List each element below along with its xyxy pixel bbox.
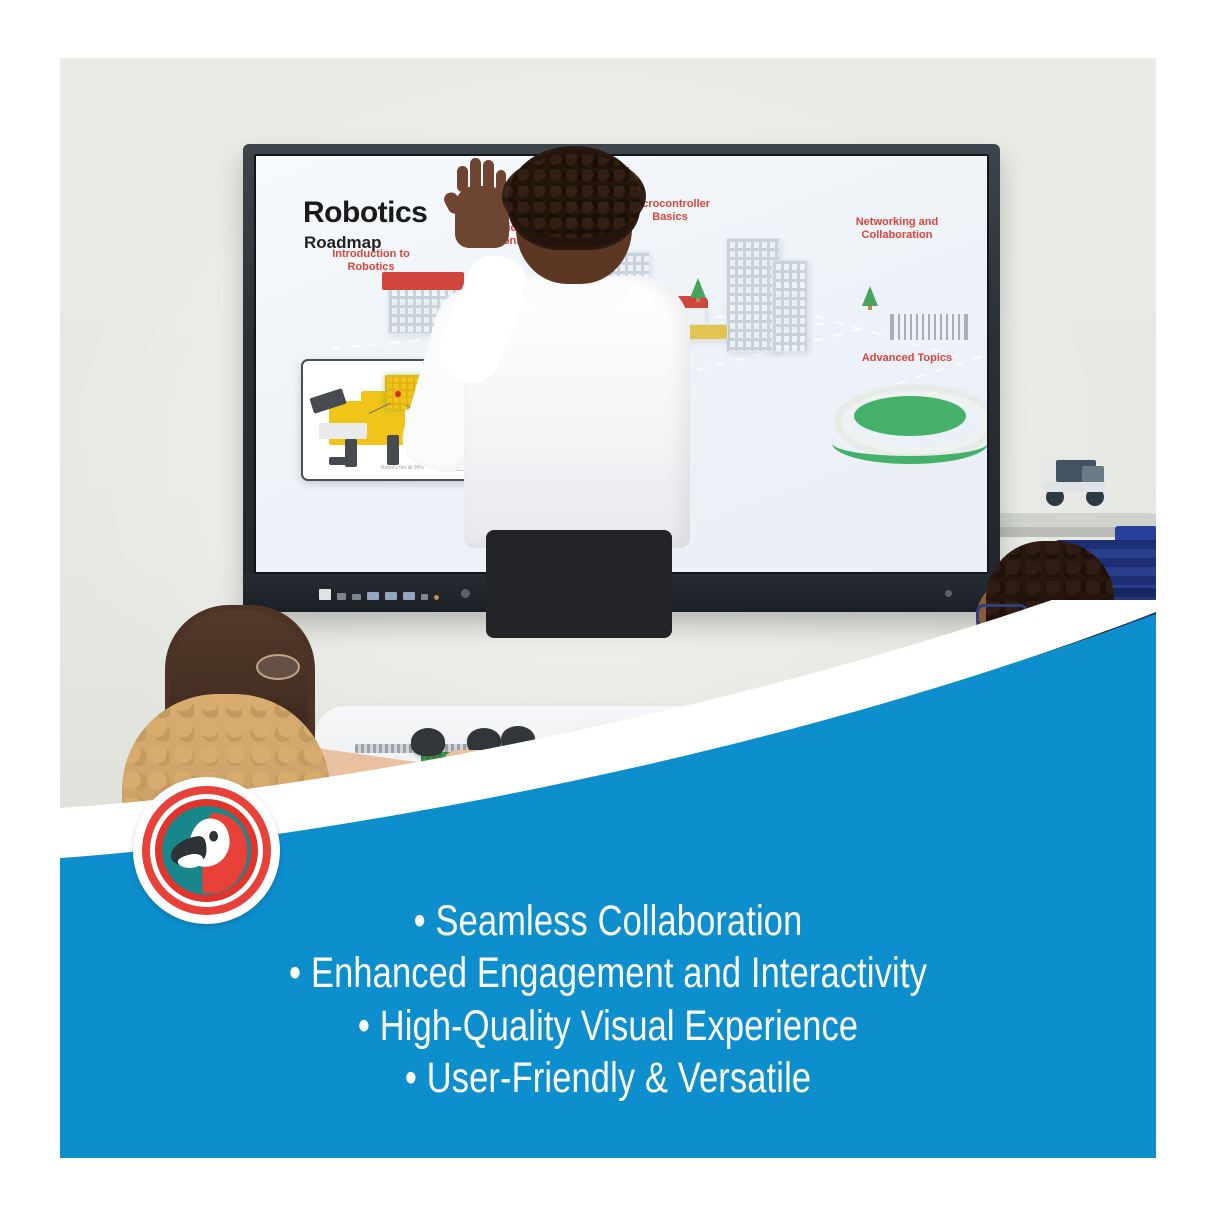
robot-foot (329, 457, 355, 465)
badge-teal-disc (162, 806, 251, 895)
parrot-head-icon (162, 806, 251, 895)
robot-kit-model (1040, 458, 1112, 508)
node-label-introduction-to-robotics: Introduction to Robotics (316, 248, 426, 274)
node-label-advanced-topics: Advanced Topics (842, 352, 972, 365)
benefit-item-2: • Enhanced Engagement and Interactivity (170, 947, 1047, 999)
benefit-item-3: • High-Quality Visual Experience (170, 1000, 1047, 1052)
node-label-line1: Networking and (856, 216, 939, 228)
io-ports-icon[interactable] (319, 589, 439, 600)
inset-footnote: Robot's fun all 99% (381, 465, 424, 471)
benefit-item-4: • User-Friendly & Versatile (170, 1052, 1047, 1104)
promo-graphic-root: Robotics Roadmap (0, 0, 1214, 1214)
tree-icon-3 (690, 278, 706, 298)
node-label-line2: Basics (652, 211, 687, 223)
spiral-track-band (832, 422, 987, 464)
node-label-line1: Advanced Topics (862, 352, 952, 364)
power-led-icon (945, 590, 952, 597)
tree-icon-4 (862, 286, 878, 306)
teacher-hand (455, 186, 509, 248)
back-shelf (1000, 513, 1156, 527)
node-label-line2: Robotics (347, 261, 394, 273)
node-label-line2: Collaboration (862, 229, 933, 241)
benefits-list: • Seamless Collaboration • Enhanced Enga… (60, 895, 1156, 1105)
node-label-networking-and-collaboration: Networking and Collaboration (834, 216, 960, 242)
switch-dot (395, 391, 401, 397)
benefit-item-1: • Seamless Collaboration (170, 895, 1047, 947)
teacher-hair (508, 146, 640, 250)
robot-leg-rear (387, 435, 399, 465)
robot-tray (319, 423, 367, 439)
node-label-line1: Introduction to (332, 248, 410, 260)
building-tower-d (772, 260, 808, 352)
network-antenna-icon (890, 314, 968, 340)
slide-title: Robotics (303, 198, 427, 228)
building-school-roof (382, 272, 464, 290)
robot-kit-model-2 (1150, 470, 1156, 514)
camera-sensor-icon (461, 589, 470, 598)
